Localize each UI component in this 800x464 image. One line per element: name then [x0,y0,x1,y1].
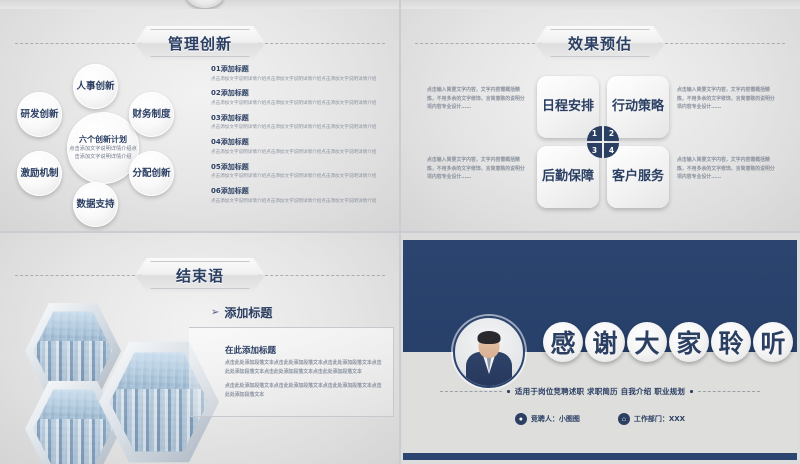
dashed-rule-right [260,275,385,276]
meta-presenter-label: 竞聘人：小图图 [531,414,580,424]
dial-number-1: 1 [587,126,602,141]
title-char: 大 [627,322,667,362]
horizontal-seam [0,231,800,233]
cluster-node-label: 激励机制 [20,168,58,180]
thank-you-frame: 感 谢 大 家 聆 听 适用于岗位竞聘述职 求职简历 自我介绍 职业规划 ● 竞… [403,240,797,460]
hair-shape [478,331,501,344]
cluster-node-hr[interactable]: 人事创新 [73,64,118,109]
numbered-list: 01添加标题 点击添加文字说明详情介绍点击添加文字说明详情介绍点击添加文字说明详… [211,64,391,211]
tagline-text: 适用于岗位竞聘述职 求职简历 自我介绍 职业规划 [515,386,685,397]
innovation-circle-cluster: 六个创新计划 点击添加文字说明详情介绍点击添加文字说明详情介绍 人事创新 财务制… [11,64,196,232]
hexagon-photo-group [25,300,205,464]
cluster-node-label: 财务制度 [132,109,170,121]
home-icon: ⌂ [618,413,630,425]
quadrant-description-top-left: 点击输入简要文字内容，文字内容需概括精炼，不用多余的文字修饰，言简意赅的说明分项… [427,86,529,112]
cluster-node-allocation[interactable]: 分配创新 [129,151,174,196]
slide-content: 效果预估 点击输入简要文字内容，文字内容需概括精炼，不用多余的文字修饰，言简意赅… [403,8,797,228]
cluster-node-rnd[interactable]: 研发创新 [17,92,62,137]
slide3-heading-text: 添加标题 [224,304,272,321]
navy-footer-bar [403,451,797,460]
dashed-rule-right [260,43,385,44]
quadrant-label: 后勤保障 [542,169,594,184]
slide-thank-you[interactable]: 感 谢 大 家 聆 听 适用于岗位竞聘述职 求职简历 自我介绍 职业规划 ● 竞… [400,232,800,464]
dashed-rule-left [15,43,140,44]
dashed-rule-right [698,391,760,392]
slide3-title-text: 结束语 [176,265,224,286]
list-item-body: 点击添加文字说明详情介绍点击添加文字说明详情介绍点击添加文字说明详情介绍 [211,76,391,83]
list-item[interactable]: 02添加标题 点击添加文字说明详情介绍点击添加文字说明详情介绍点击添加文字说明详… [211,88,391,107]
bullet-dot-icon [507,390,510,393]
list-item[interactable]: 06添加标题 点击添加文字说明详情介绍点击添加文字说明详情介绍点击添加文字说明详… [211,186,391,205]
cluster-node-incentive[interactable]: 激励机制 [17,151,62,196]
meta-department: ⌂ 工作部门：XXX [618,413,685,425]
quadrant-description-top-right: 点击输入简要文字内容，文字内容需概括精炼，不用多余的文字修饰，言简意赅的说明分项… [677,86,779,112]
list-item-body: 点击添加文字说明详情介绍点击添加文字说明详情介绍点击添加文字说明详情介绍 [211,198,391,205]
chevron-right-icon: ➢ [211,307,219,318]
person-icon: ● [515,413,527,425]
slide3-heading-row: ➢ 添加标题 [211,304,272,321]
bullet-dot-icon [690,390,693,393]
list-item[interactable]: 01添加标题 点击添加文字说明详情介绍点击添加文字说明详情介绍点击添加文字说明详… [211,64,391,83]
slide3-text-body: 在此添加标题 点击此处添加段落文本点击此处添加段落文本点击此处添加段落文本点击此… [225,344,385,405]
slide1-title-banner: 管理创新 [135,26,265,60]
slide3-title-banner: 结束语 [135,258,265,292]
slide2-title-row: 效果预估 [403,26,797,60]
quadrant-label: 客户服务 [612,169,664,184]
dial-number-4: 4 [604,143,619,158]
title-char: 听 [753,322,793,362]
slide-content: 管理创新 六个创新计划 点击添加文字说明详情介绍点击添加文字说明详情介绍 人事创… [3,8,397,228]
list-item-body: 点击添加文字说明详情介绍点击添加文字说明详情介绍点击添加文字说明详情介绍 [211,173,391,180]
quadrant-diagram: 日程安排 行动策略 后勤保障 客户服务 1 2 3 4 [537,76,669,208]
quadrant-label: 日程安排 [542,99,594,114]
list-item-body: 点击添加文字说明详情介绍点击添加文字说明详情介绍点击添加文字说明详情介绍 [211,149,391,156]
list-item-heading: 01添加标题 [211,64,391,74]
slide-closing-remarks[interactable]: 结束语 ➢ 添加标题 在此添加标题 点击此处添加段落文本点击此处添加段落文本点击… [0,232,400,464]
quadrant-description-bottom-left: 点击输入简要文字内容，文字内容需概括精炼，不用多余的文字修饰，言简意赅的说明分项… [427,156,529,182]
list-item-heading: 03添加标题 [211,113,391,123]
avatar [453,316,525,388]
list-item-body: 点击添加文字说明详情介绍点击添加文字说明详情介绍点击添加文字说明详情介绍 [211,100,391,107]
slide1-title-row: 管理创新 [3,26,397,60]
cluster-node-finance[interactable]: 财务制度 [129,92,174,137]
list-item-heading: 06添加标题 [211,186,391,196]
cluster-node-label: 研发创新 [20,109,58,121]
meta-row: ● 竞聘人：小图图 ⌂ 工作部门：XXX [403,413,797,425]
title-char: 聆 [711,322,751,362]
meta-presenter: ● 竞聘人：小图图 [515,413,580,425]
tagline-row: 适用于岗位竞聘述职 求职简历 自我介绍 职业规划 [403,386,797,397]
slide3-title-row: 结束语 [3,258,397,292]
slide1-title-text: 管理创新 [168,33,232,54]
slide2-title-banner: 效果预估 [535,26,665,60]
dashed-rule-left [415,43,540,44]
dashed-rule-left [15,275,140,276]
dial-number-3: 3 [587,143,602,158]
title-char: 谢 [585,322,625,362]
partial-circle-decoration [186,0,224,8]
dial-number-2: 2 [604,126,619,141]
cluster-node-data[interactable]: 数据支持 [73,182,118,227]
slide-management-innovation[interactable]: 管理创新 六个创新计划 点击添加文字说明详情介绍点击添加文字说明详情介绍 人事创… [0,0,400,232]
title-char: 感 [543,322,583,362]
quadrant-number-dial: 1 2 3 4 [587,126,619,158]
list-item[interactable]: 03添加标题 点击添加文字说明详情介绍点击添加文字说明详情介绍点击添加文字说明详… [211,113,391,132]
list-item[interactable]: 05添加标题 点击添加文字说明详情介绍点击添加文字说明详情介绍点击添加文字说明详… [211,162,391,181]
dashed-rule-left [440,391,502,392]
cluster-center-title: 六个创新计划 [79,135,127,145]
cluster-node-label: 人事创新 [76,81,114,93]
cluster-center-body: 点击添加文字说明详情介绍点击添加文字说明详情介绍 [67,146,139,161]
list-item-heading: 05添加标题 [211,162,391,172]
slide-content: 结束语 ➢ 添加标题 在此添加标题 点击此处添加段落文本点击此处添加段落文本点击… [3,240,397,460]
thank-you-title: 感 谢 大 家 聆 听 [543,322,793,362]
dashed-rule-right [660,43,785,44]
slide3-paragraph-1: 点击此处添加段落文本点击此处添加段落文本点击此处添加段落文本点击此处添加段落文本… [225,359,385,377]
slide3-subheading: 在此添加标题 [225,344,385,356]
slide2-title-text: 效果预估 [568,33,632,54]
title-char: 家 [669,322,709,362]
list-item-body: 点击添加文字说明详情介绍点击添加文字说明详情介绍点击添加文字说明详情介绍 [211,124,391,131]
quadrant-label: 行动策略 [612,99,664,114]
slide3-paragraph-2: 点击此处添加段落文本点击此处添加段落文本点击此处添加段落文本点击此处添加段落文本 [225,382,385,400]
list-item-heading: 02添加标题 [211,88,391,98]
slide-grid: 管理创新 六个创新计划 点击添加文字说明详情介绍点击添加文字说明详情介绍 人事创… [0,0,800,464]
cluster-node-label: 数据支持 [76,199,114,211]
quadrant-description-bottom-right: 点击输入简要文字内容，文字内容需概括精炼，不用多余的文字修饰，言简意赅的说明分项… [677,156,779,182]
list-item-heading: 04添加标题 [211,137,391,147]
meta-department-label: 工作部门：XXX [634,414,685,424]
cluster-node-label: 分配创新 [132,168,170,180]
list-item[interactable]: 04添加标题 点击添加文字说明详情介绍点击添加文字说明详情介绍点击添加文字说明详… [211,137,391,156]
slide-effect-evaluation[interactable]: 效果预估 点击输入简要文字内容，文字内容需概括精炼，不用多余的文字修饰，言简意赅… [400,0,800,232]
